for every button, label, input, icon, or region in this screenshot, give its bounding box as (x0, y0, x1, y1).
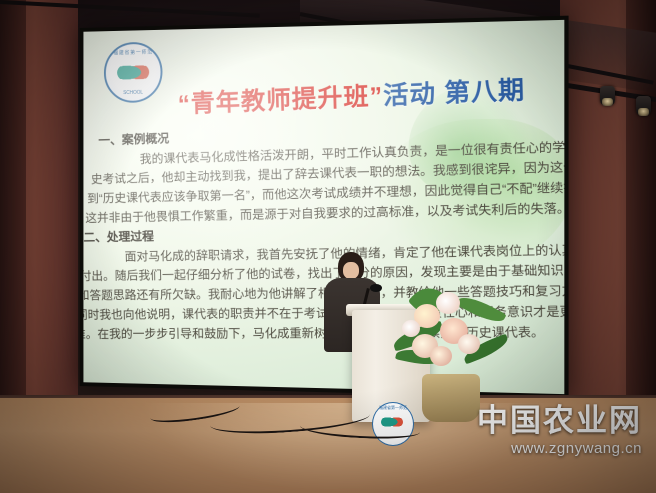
flower-bloom-6 (430, 346, 452, 366)
school-logo-subtext: SCHOOL (123, 90, 143, 96)
speaker-face (343, 262, 359, 279)
left-wall-shadow (0, 0, 26, 430)
slide-title-part2: 活动 第八期 (383, 76, 526, 110)
flower-bloom-5 (458, 334, 480, 354)
podium-emblem-ring-text: 福建省第一师范 (373, 405, 413, 411)
school-logo: 福建省第一师范 SCHOOL (104, 42, 163, 104)
slide-title: “青年教师提升班”活动 第八期 (177, 69, 539, 120)
school-logo-ring-text: 福建省第一师范 (113, 49, 153, 57)
flower-arrangement (396, 282, 511, 392)
watermark-url: www.zgnywang.cn (477, 440, 642, 457)
school-logo-mark (117, 61, 149, 83)
watermark: 中国农业网 www.zgnywang.cn (477, 395, 642, 457)
flower-bloom-7 (402, 320, 420, 337)
slide-title-part1: “青年教师提升班” (177, 82, 383, 118)
watermark-site-name: 中国农业网 (477, 395, 642, 440)
spotlight-7 (636, 96, 651, 116)
flower-bloom-2 (436, 292, 460, 314)
spotlight-6 (600, 86, 615, 106)
photo-scene: 福建省第一师范 SCHOOL “青年教师提升班”活动 第八期 一、案例概况 我的… (0, 0, 656, 493)
microphone-head (370, 284, 382, 292)
